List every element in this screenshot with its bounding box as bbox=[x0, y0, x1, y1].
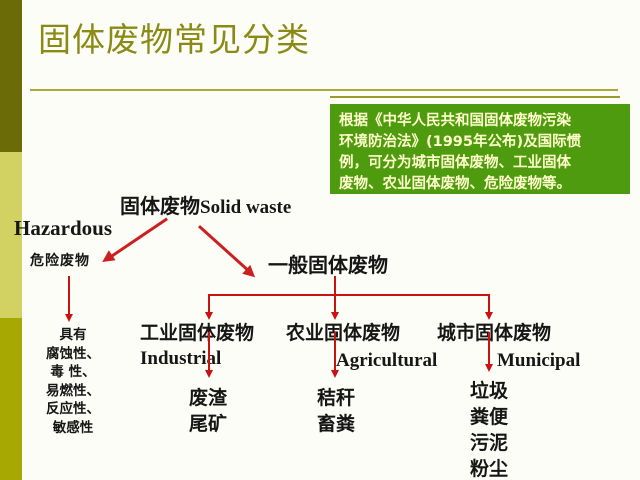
connector-bus-drop-industrial bbox=[208, 294, 210, 314]
connector-municipal-stem bbox=[488, 332, 490, 366]
note-line-2: 环境防治法》(1995年公布)及国际惯 bbox=[339, 132, 621, 153]
arrow-bus-to-industrial bbox=[205, 312, 213, 320]
list-item: 畜粪 bbox=[306, 411, 366, 437]
node-municipal-en: Municipal bbox=[497, 350, 580, 372]
slide-canvas: 固体废物常见分类 根据《中华人民共和国固体废物污染 环境防治法》(1995年公布… bbox=[0, 0, 640, 480]
arrow-municipal-to-items bbox=[485, 364, 493, 372]
node-municipal-cn: 城市固体废物 bbox=[437, 318, 551, 345]
list-item: 腐蚀性、 bbox=[34, 345, 112, 364]
list-item: 粉尘 bbox=[459, 456, 519, 480]
node-general-waste: 一般固体废物 bbox=[268, 249, 388, 278]
connector-branch-bus bbox=[208, 294, 490, 296]
node-municipal-items: 垃圾 粪便 污泥 粉尘 bbox=[459, 378, 519, 480]
connector-general-stem bbox=[334, 276, 336, 296]
node-agricultural-items: 秸秆 畜粪 bbox=[306, 385, 366, 437]
list-item: 反应性、 bbox=[34, 400, 112, 419]
node-root: 固体废物Solid waste bbox=[120, 190, 291, 219]
node-industrial-items: 废渣 尾矿 bbox=[178, 385, 238, 437]
list-item: 废渣 bbox=[178, 385, 238, 411]
list-item: 尾矿 bbox=[178, 411, 238, 437]
connector-bus-drop-municipal bbox=[488, 294, 490, 314]
arrow-hazardous-to-properties bbox=[65, 314, 73, 322]
connector-bus-drop-agricultural bbox=[334, 294, 336, 314]
connector-agricultural-stem bbox=[334, 332, 336, 372]
arrow-bus-to-agricultural bbox=[331, 312, 339, 320]
node-industrial-cn: 工业固体废物 bbox=[140, 318, 254, 345]
list-item: 毒 性、 bbox=[34, 363, 112, 382]
node-hazardous-cn: 危险废物 bbox=[30, 250, 90, 270]
connector-hazardous-stem bbox=[68, 276, 70, 316]
list-item: 粪便 bbox=[459, 404, 519, 430]
definition-note-box: 根据《中华人民共和国固体废物污染 环境防治法》(1995年公布)及国际惯 例，可… bbox=[330, 104, 630, 194]
sidebar-stripe-bottom bbox=[0, 318, 22, 480]
connector-industrial-stem bbox=[208, 332, 210, 372]
node-root-label-cn: 固体废物 bbox=[120, 194, 200, 218]
list-item: 污泥 bbox=[459, 430, 519, 456]
list-item: 垃圾 bbox=[459, 378, 519, 404]
arrow-agricultural-to-items bbox=[331, 370, 339, 378]
node-root-label-en: Solid waste bbox=[200, 197, 291, 218]
node-hazardous-en: Hazardous bbox=[14, 216, 112, 241]
note-line-1: 根据《中华人民共和国固体废物污染 bbox=[339, 111, 621, 132]
title-divider bbox=[30, 89, 618, 91]
list-item: 秸秆 bbox=[306, 385, 366, 411]
node-hazardous-properties: 具有 腐蚀性、 毒 性、 易燃性、 反应性、 敏感性 bbox=[34, 326, 112, 437]
title-divider-secondary bbox=[330, 96, 620, 98]
node-agricultural-cn: 农业固体废物 bbox=[286, 318, 400, 345]
list-item: 具有 bbox=[34, 326, 112, 345]
arrow-industrial-to-items bbox=[205, 370, 213, 378]
arrow-bus-to-municipal bbox=[485, 312, 493, 320]
note-line-4: 废物、农业固体废物、危险废物等。 bbox=[339, 174, 621, 195]
node-agricultural-en: Agricultural bbox=[336, 350, 437, 372]
list-item: 敏感性 bbox=[34, 419, 112, 438]
sidebar-stripe-top bbox=[0, 0, 22, 152]
list-item: 易燃性、 bbox=[34, 382, 112, 401]
note-line-3: 例，可分为城市固体废物、工业固体 bbox=[339, 153, 621, 174]
page-title: 固体废物常见分类 bbox=[38, 18, 310, 62]
